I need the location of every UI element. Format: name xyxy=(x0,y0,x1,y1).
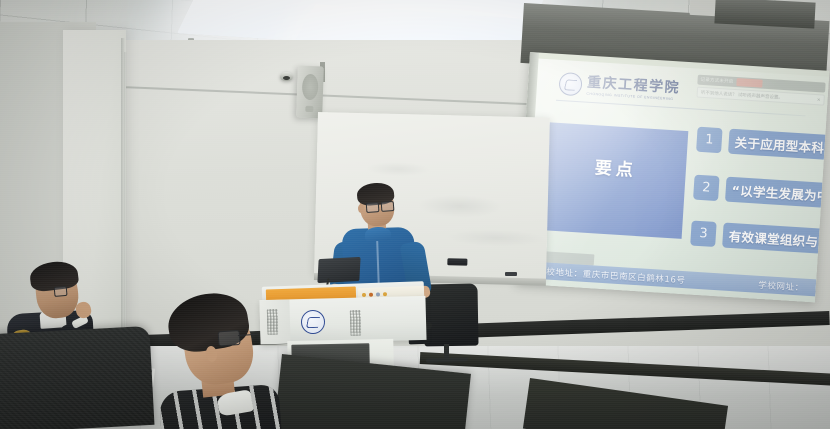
podium-vent-right xyxy=(350,310,362,336)
pa-speaker-icon xyxy=(296,66,324,119)
podium-button-1[interactable] xyxy=(362,293,366,297)
slide-footer-address: 学校地址：重庆市巴南区白鹤林16号 xyxy=(537,264,686,285)
slide-surface[interactable]: 重庆工程学院 CHONGQING INSTITUTE OF ENGINEERIN… xyxy=(524,59,829,303)
slide-item-2-number: 2 xyxy=(693,175,720,202)
slide-item-3[interactable]: 3 有效课堂组织与实 xyxy=(690,220,829,256)
slide-item-1[interactable]: 1 关于应用型本科 xyxy=(696,127,829,163)
presenter-collar xyxy=(365,227,391,242)
seated-attendee-striped-shirt xyxy=(160,296,290,429)
slide-heading: 要点 xyxy=(545,150,686,184)
podium-button-2[interactable] xyxy=(369,293,373,297)
slide-item-2[interactable]: 2 “以学生发展为中 xyxy=(693,175,829,211)
slide-item-1-number: 1 xyxy=(696,127,723,154)
toast-record-text: 记录方式未开启 xyxy=(700,77,733,85)
school-crest-icon xyxy=(558,72,582,96)
slide-institution-logo: 重庆工程学院 CHONGQING INSTITUTE OF ENGINEERIN… xyxy=(558,72,680,103)
classroom-photo-scene: 重庆工程学院 CHONGQING INSTITUTE OF ENGINEERIN… xyxy=(0,0,830,429)
meeting-toast-notification[interactable]: 记录方式未开启 听不到他人说话？ 试听扬声器声音设置。 ✕ xyxy=(696,75,825,106)
slide-item-3-number: 3 xyxy=(690,220,717,247)
slide-header-rule xyxy=(556,100,806,117)
start-record-button[interactable] xyxy=(736,78,762,88)
slide-footer-website: 学校网址： xyxy=(758,278,804,293)
whiteboard-marker-icon[interactable] xyxy=(505,272,517,276)
toast-message-text: 听不到他人说话？ 试听扬声器声音设置。 xyxy=(701,89,783,100)
podium-button-4[interactable] xyxy=(383,292,387,296)
slide-item-2-text: “以学生发展为中 xyxy=(725,177,829,211)
slide-item-1-text: 关于应用型本科 xyxy=(728,129,829,163)
slide-item-3-text: 有效课堂组织与实 xyxy=(722,222,829,256)
podium-button-3[interactable] xyxy=(376,292,380,296)
presenter-ear xyxy=(358,204,364,213)
close-icon[interactable]: ✕ xyxy=(817,97,821,103)
chair-fabric-texture xyxy=(0,326,154,429)
cctv-dome-camera-icon xyxy=(280,72,293,81)
key-points-panel: 要点 xyxy=(542,122,689,239)
whiteboard-eraser-icon[interactable] xyxy=(447,258,467,265)
projection-screen[interactable]: 重庆工程学院 CHONGQING INSTITUTE OF ENGINEERIN… xyxy=(515,52,829,302)
eyeglasses-icon xyxy=(366,201,394,211)
eyeglasses-icon xyxy=(218,329,261,345)
foreground-chair-left[interactable] xyxy=(0,326,154,429)
